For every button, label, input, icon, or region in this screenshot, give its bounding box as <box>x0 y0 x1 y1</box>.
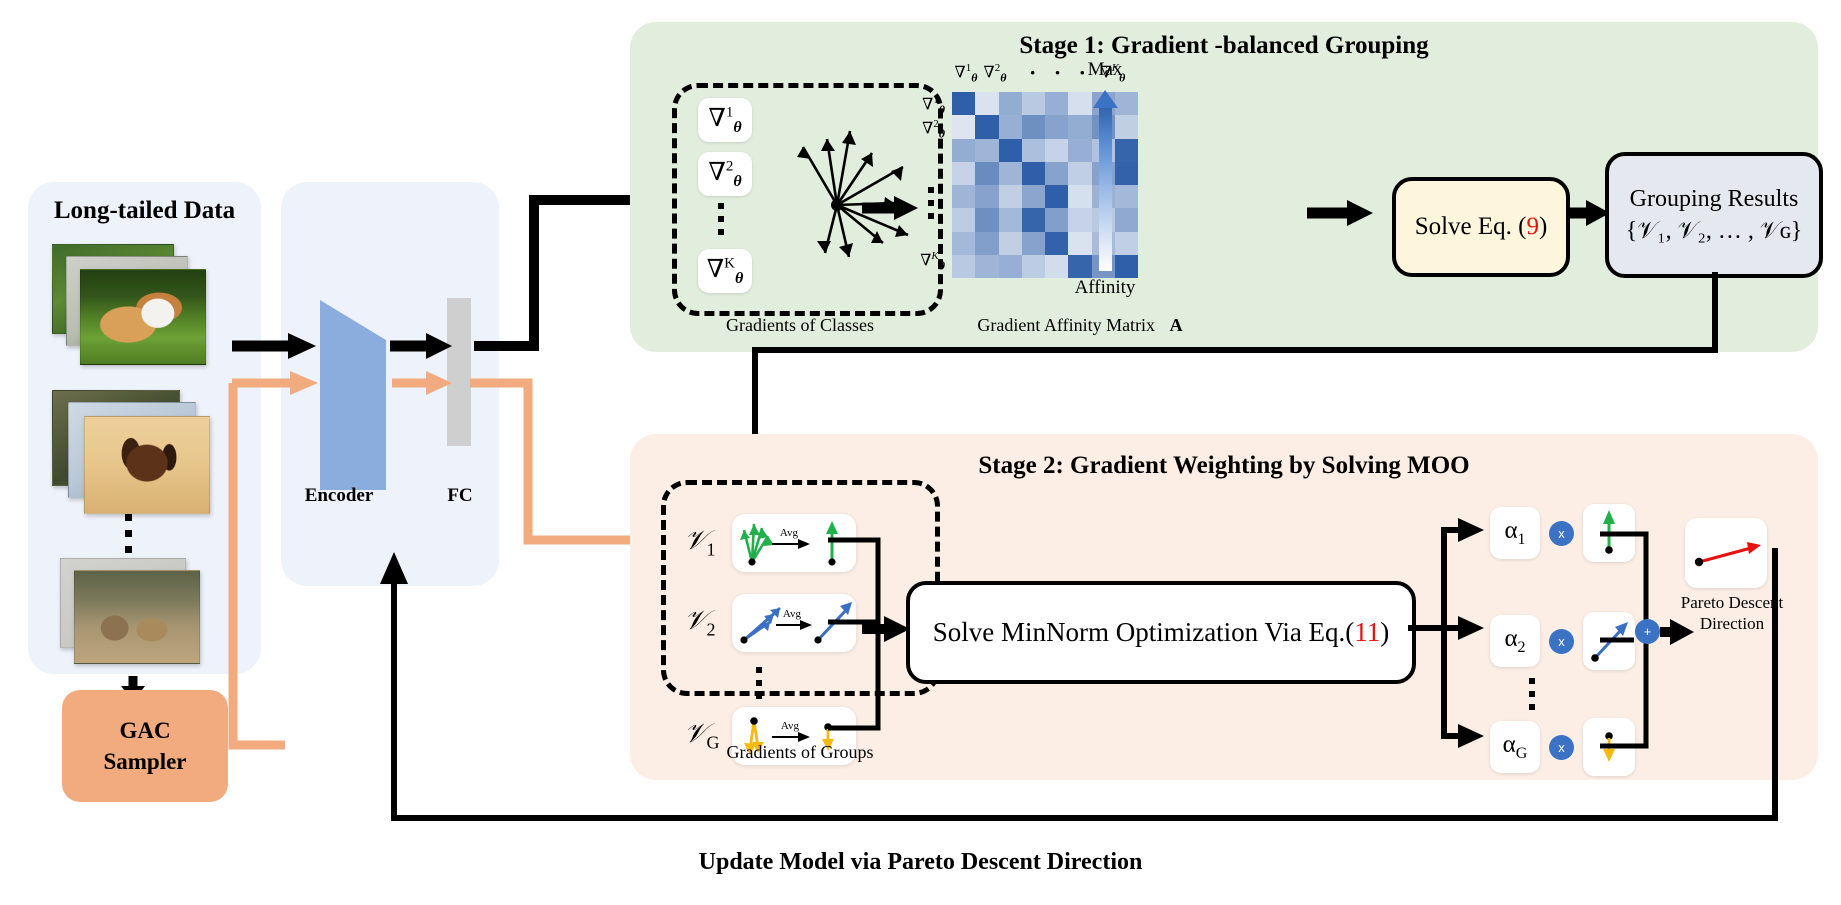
matrix-cell <box>1068 208 1091 231</box>
stage2-title: Stage 2: Gradient Weighting by Solving M… <box>630 452 1818 480</box>
matrix-col-header-2: ∇2θ <box>981 62 1009 86</box>
matrix-cell <box>1115 115 1138 138</box>
matrix-row-header-2: ∇2θ <box>915 118 945 142</box>
arrow-data-to-encoder <box>232 333 316 359</box>
dog-image-stack <box>52 244 222 364</box>
matrix-cell <box>1068 115 1091 138</box>
matrix-cell <box>975 162 998 185</box>
matrix-cell <box>1022 232 1045 255</box>
matrix-cell <box>952 162 975 185</box>
stage1-title: Stage 1: Gradient -balanced Grouping <box>630 32 1818 60</box>
multiply-icon-1: x <box>1549 521 1574 546</box>
matrix-cell <box>975 232 998 255</box>
matrix-cell <box>999 162 1022 185</box>
gac-line1: GAC <box>119 715 170 746</box>
matrix-cell <box>1068 139 1091 162</box>
grouping-results-set: {𝒱₁, 𝒱₂, … , 𝒱ɢ} <box>1626 215 1803 247</box>
matrix-row-header-1: ∇1θ <box>915 94 945 118</box>
solve-eq-text: Solve Eq. ( <box>1415 213 1527 240</box>
solve-eq9-box[interactable]: Solve Eq. (9) <box>1392 177 1570 277</box>
matrix-cell <box>1045 92 1068 115</box>
matrix-cell <box>1115 92 1138 115</box>
matrix-cell <box>1068 185 1091 208</box>
matrix-cell <box>1115 185 1138 208</box>
colorbar-max-label: Max <box>1060 59 1150 81</box>
gac-orange-route <box>225 375 285 755</box>
matrix-cell <box>975 115 998 138</box>
matrix-cell <box>1045 162 1068 185</box>
alpha-label-1: α <box>1504 517 1517 544</box>
matrix-cell <box>1045 185 1068 208</box>
solve-eq-number: 9 <box>1526 213 1539 240</box>
matrix-cell <box>1045 139 1068 162</box>
matrix-cell <box>1022 185 1045 208</box>
matrix-cell <box>952 139 975 162</box>
matrix-cell <box>999 115 1022 138</box>
avg-label-1: Avg <box>780 527 799 539</box>
matrix-cell <box>1115 232 1138 255</box>
matrix-row-header-dots <box>928 187 934 228</box>
long-tailed-data-title: Long-tailed Data <box>28 197 261 225</box>
alpha-sub-1: 1 <box>1518 531 1526 548</box>
matrix-cell <box>1022 208 1045 231</box>
matrix-cell <box>1045 208 1068 231</box>
matrix-cell <box>1022 92 1045 115</box>
matrix-cell <box>999 185 1022 208</box>
encoder-trapezoid <box>320 300 400 490</box>
matrix-cell <box>1115 139 1138 162</box>
gradient-chip-1: ∇1θ <box>698 98 752 142</box>
colorbar-arrowhead <box>1093 90 1118 108</box>
solve-eq-close: ) <box>1539 213 1547 240</box>
matrix-cell <box>952 92 975 115</box>
route-pareto-feedback <box>380 548 1800 828</box>
matrix-cell <box>1045 115 1068 138</box>
matrix-cell <box>1022 162 1045 185</box>
matrix-cell <box>1115 162 1138 185</box>
matrix-cell <box>1022 115 1045 138</box>
affinity-colorbar <box>1099 103 1112 271</box>
encoder-label: Encoder <box>282 485 396 507</box>
matrix-cell <box>975 208 998 231</box>
matrix-cell <box>975 185 998 208</box>
matrix-cell <box>999 92 1022 115</box>
arrow-vectors-to-matrix <box>862 196 918 220</box>
arrow-eq9-to-grouping <box>1566 200 1610 226</box>
grouping-results-title: Grouping Results <box>1630 183 1799 215</box>
horse-image-stack <box>52 390 232 522</box>
matrix-cell <box>952 208 975 231</box>
gac-line2: Sampler <box>103 746 186 777</box>
matrix-cell <box>952 115 975 138</box>
matrix-cell <box>952 232 975 255</box>
grouping-results-box[interactable]: Grouping Results {𝒱₁, 𝒱₂, … , 𝒱ɢ} <box>1605 152 1823 278</box>
arrow-colorbar-to-eq9 <box>1307 200 1373 226</box>
gradient-chip-2: ∇2θ <box>698 152 752 196</box>
matrix-col-header-1: ∇1θ <box>952 62 980 86</box>
matrix-cell <box>1068 162 1091 185</box>
matrix-cell <box>1022 139 1045 162</box>
matrix-cell <box>952 185 975 208</box>
matrix-cell <box>1045 232 1068 255</box>
arrow-orange-encoder-to-fc <box>392 371 452 395</box>
gradient-chips-dots <box>718 203 724 244</box>
matrix-cell <box>999 232 1022 255</box>
matrix-cell <box>999 208 1022 231</box>
matrix-cell <box>975 92 998 115</box>
matrix-cell <box>1068 92 1091 115</box>
gac-sampler-box[interactable]: GAC Sampler <box>62 690 228 802</box>
arrow-encoder-to-fc <box>390 333 452 359</box>
matrix-cell <box>1115 208 1138 231</box>
gradient-chip-K: ∇Kθ <box>698 249 752 293</box>
bottom-caption: Update Model via Pareto Descent Directio… <box>0 849 1841 876</box>
matrix-cell <box>1068 232 1091 255</box>
matrix-cell <box>999 139 1022 162</box>
matrix-cell <box>975 139 998 162</box>
data-vertical-dots <box>125 514 132 562</box>
meerkat-image-stack <box>60 558 240 668</box>
